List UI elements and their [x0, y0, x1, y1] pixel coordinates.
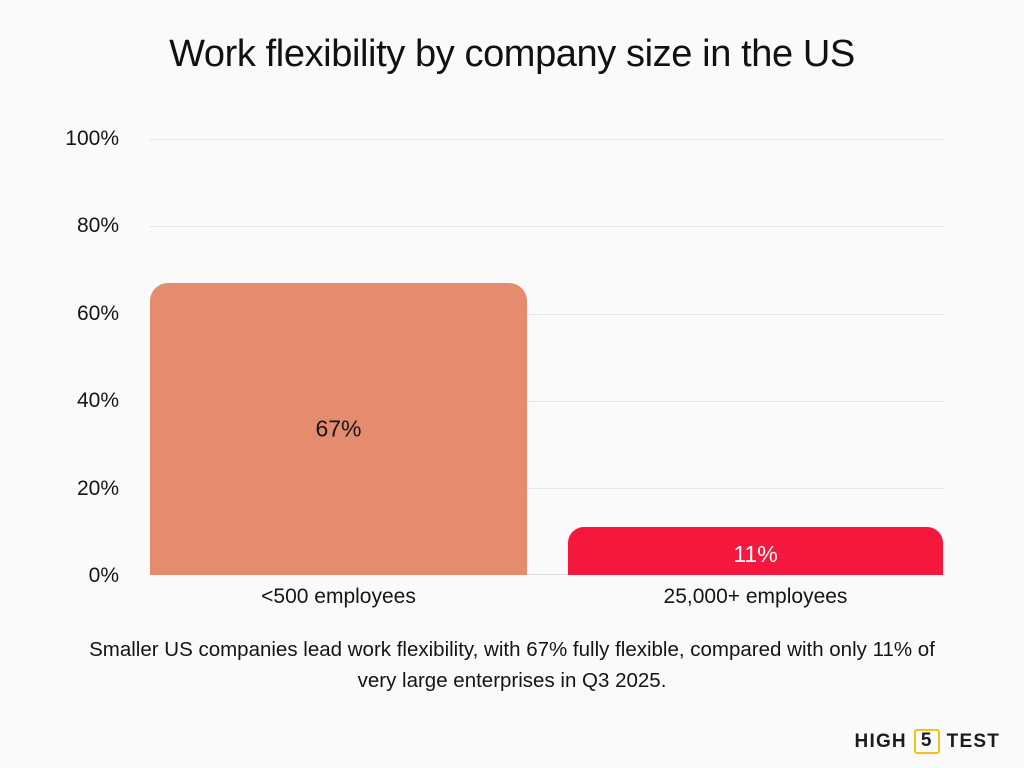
y-axis-tick-60: 60% [0, 302, 119, 326]
x-axis-label-large-companies: 25,000+ employees [568, 585, 943, 609]
bar-small-companies[interactable]: 67% [150, 283, 527, 575]
y-axis-tick-100: 100% [0, 127, 119, 151]
y-axis-tick-40: 40% [0, 389, 119, 413]
bar-large-companies[interactable]: 11% [568, 527, 943, 575]
brand-logo-word-one: HIGH [855, 731, 907, 753]
gridline-100 [150, 139, 945, 140]
brand-logo-word-two: TEST [947, 731, 1000, 753]
chart-title: Work flexibility by company size in the … [0, 33, 1024, 76]
y-axis-tick-0: 0% [0, 564, 119, 588]
bar-small-companies-value: 67% [150, 415, 527, 442]
y-axis-tick-20: 20% [0, 477, 119, 501]
gridline-80 [150, 226, 945, 227]
x-axis-label-small-companies: <500 employees [150, 585, 527, 609]
bar-large-companies-value: 11% [568, 541, 943, 568]
y-axis-tick-80: 80% [0, 214, 119, 238]
plot-area: 67% 11% [150, 139, 945, 575]
chart-canvas: Work flexibility by company size in the … [0, 0, 1024, 768]
chart-caption: Smaller US companies lead work flexibili… [82, 634, 942, 696]
brand-logo: HIGH 5 TEST [855, 729, 1000, 754]
brand-logo-badge: 5 [914, 729, 940, 754]
